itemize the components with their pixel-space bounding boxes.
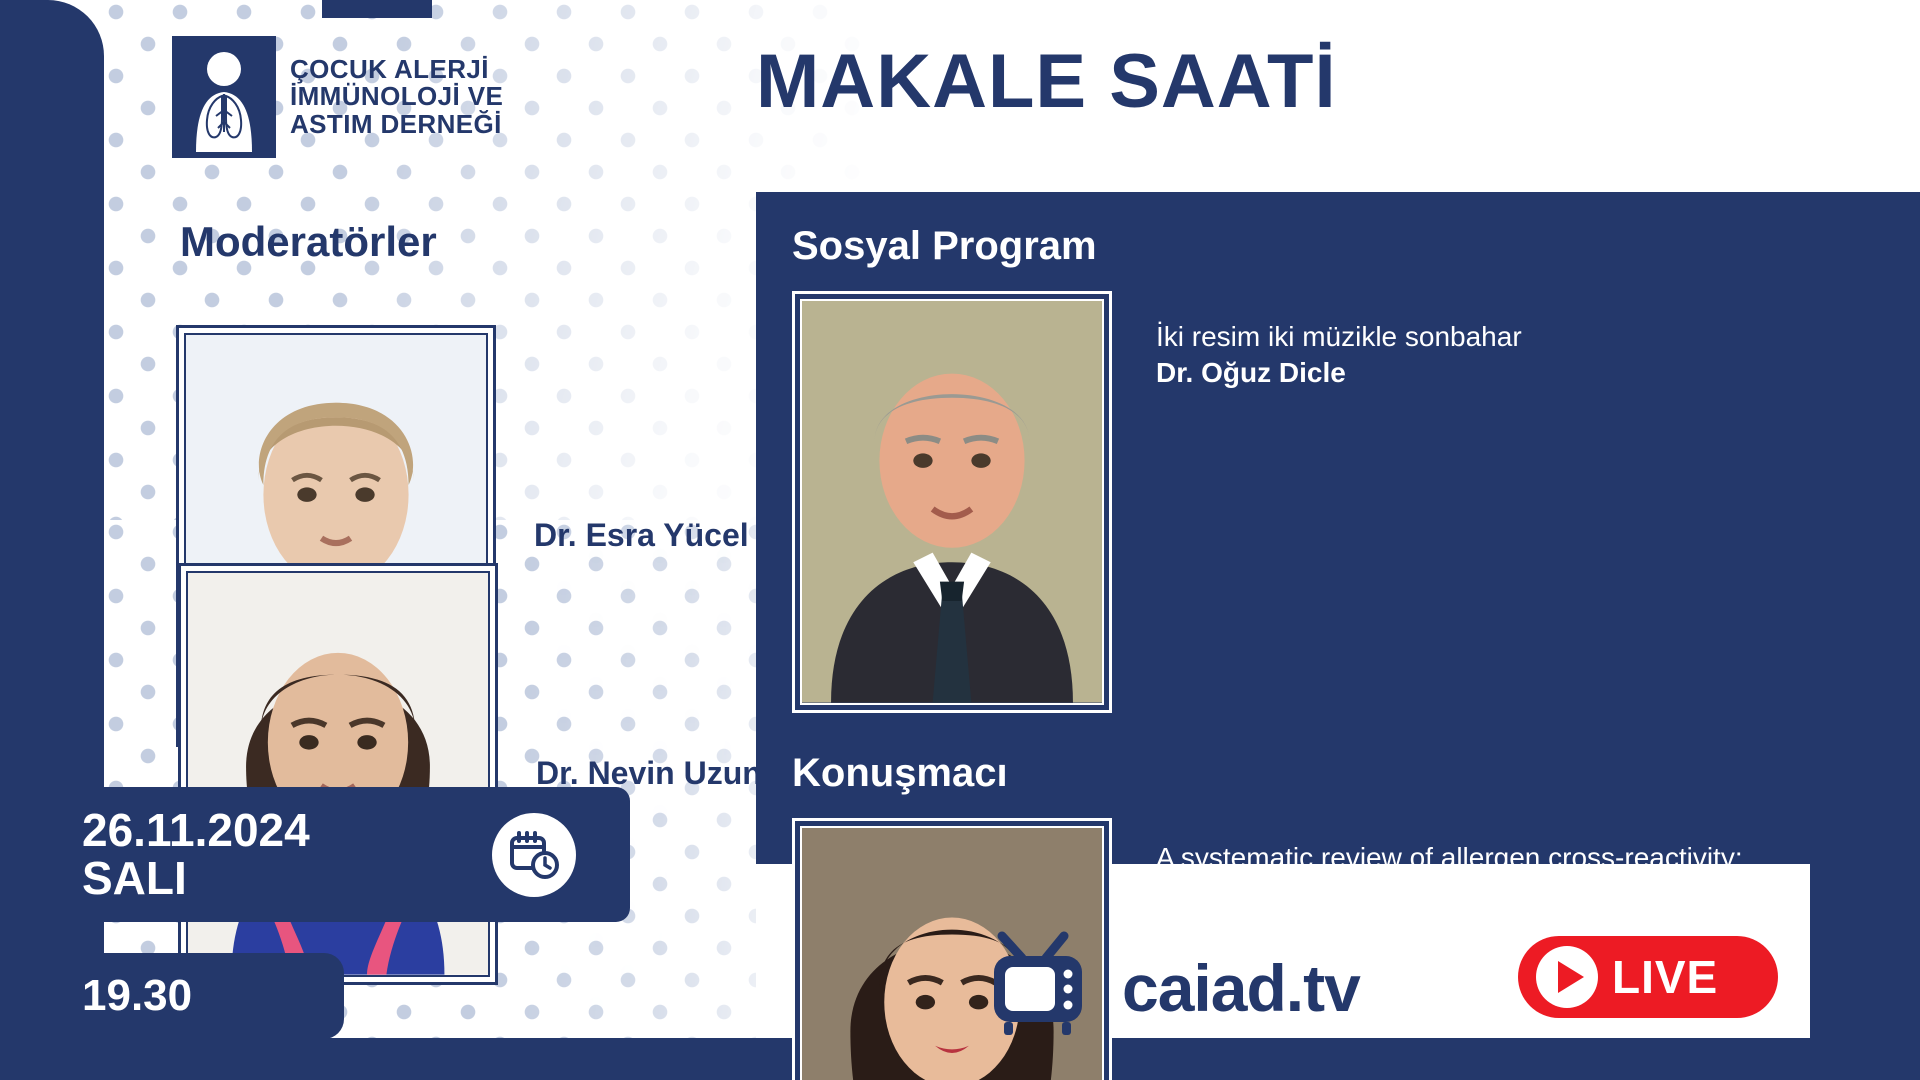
social-program-text: İki resim iki müzikle sonbahar Dr. Oğuz … xyxy=(1156,291,1522,389)
live-label: LIVE xyxy=(1612,950,1718,1004)
organization-logo: ÇOCUK ALERJİ İMMÜNOLOJİ VE ASTIM DERNEĞİ xyxy=(172,36,503,158)
time-badge: 19.30 xyxy=(0,953,344,1039)
top-accent-tab xyxy=(322,0,432,18)
day-value: SALI xyxy=(82,855,310,903)
calendar-clock-icon xyxy=(492,813,576,897)
moderators-heading: Moderatörler xyxy=(180,218,437,266)
avatar xyxy=(792,291,1112,713)
speaker-title-line-2: Translating basic concepts into clinical… xyxy=(1156,876,1760,912)
logo-line-2: İMMÜNOLOJİ VE xyxy=(290,83,503,111)
logo-line-3: ASTIM DERNEĞİ xyxy=(290,111,503,139)
social-program-person: Dr. Oğuz Dicle xyxy=(1156,357,1522,389)
poster-canvas: ÇOCUK ALERJİ İMMÜNOLOJİ VE ASTIM DERNEĞİ… xyxy=(0,0,1920,1080)
date-value: 26.11.2024 xyxy=(82,807,310,855)
brand-site-text: caiad.tv xyxy=(1122,950,1360,1026)
social-program-title: İki resim iki müzikle sonbahar xyxy=(1156,319,1522,355)
page-title: MAKALE SAATİ xyxy=(756,38,1337,125)
play-icon xyxy=(1536,946,1598,1008)
speaker-title-line-1: A systematic review of allergen cross-re… xyxy=(1156,840,1760,876)
social-program-heading: Sosyal Program xyxy=(792,224,1920,269)
social-program-entry: İki resim iki müzikle sonbahar Dr. Oğuz … xyxy=(792,291,1920,713)
program-card: Sosyal Program xyxy=(756,192,1920,864)
portrait-oguz-dicle xyxy=(800,299,1104,705)
moderator-name: Dr. Esra Yücel xyxy=(534,517,749,554)
time-value: 19.30 xyxy=(82,971,192,1021)
speaker-text: A systematic review of allergen cross-re… xyxy=(1156,818,1760,947)
logo-line-1: ÇOCUK ALERJİ xyxy=(290,56,503,84)
date-badge: 26.11.2024 SALI xyxy=(0,787,630,922)
child-lungs-icon xyxy=(172,36,276,158)
brand-block[interactable]: caiad.tv xyxy=(988,930,1360,1045)
organization-name: ÇOCUK ALERJİ İMMÜNOLOJİ VE ASTIM DERNEĞİ xyxy=(290,56,503,139)
speaker-heading: Konuşmacı xyxy=(792,751,1920,796)
date-text: 26.11.2024 SALI xyxy=(82,807,310,903)
live-badge[interactable]: LIVE xyxy=(1518,936,1778,1018)
retro-tv-icon xyxy=(988,930,1106,1045)
